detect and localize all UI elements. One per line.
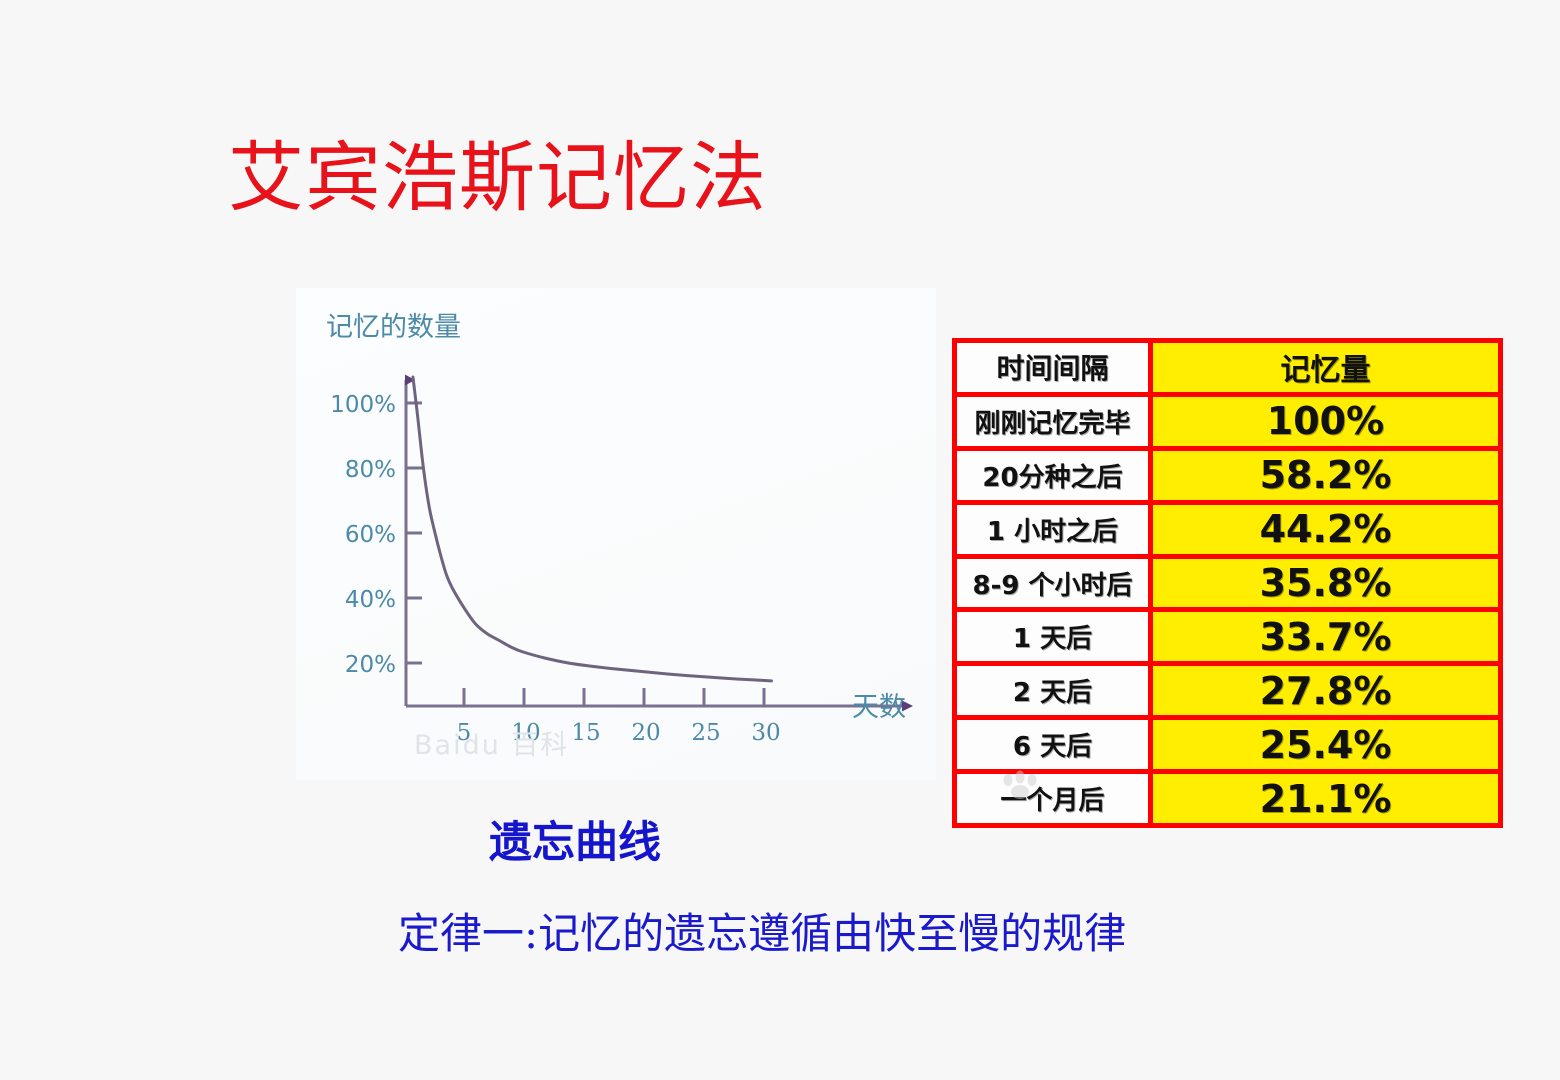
cell-amount: 33.7% [1153, 612, 1498, 661]
forgetting-curve-chart: 100% 80% 60% 40% 20% 5 10 15 20 25 30 记忆… [296, 288, 936, 780]
cell-interval: 一个月后 [957, 774, 1148, 823]
y-tick-label: 80% [345, 457, 396, 483]
forgetting-curve-line [413, 377, 771, 681]
table-header-row: 时间间隔 记忆量 [957, 343, 1498, 392]
table-row: 20分种之后 58.2% [957, 451, 1498, 500]
page-title: 艾宾浩斯记忆法 [228, 140, 767, 216]
cell-interval: 刚刚记忆完毕 [957, 397, 1148, 446]
law-description: 定律一:记忆的遗忘遵循由快至慢的规律 [398, 900, 1126, 961]
x-tick-label: 25 [691, 720, 720, 746]
x-tick-label: 20 [631, 720, 660, 746]
table-row: 1 天后 33.7% [957, 612, 1498, 661]
x-axis-title: 天数 [852, 692, 906, 723]
chart-caption-label: 遗忘曲线 [489, 808, 661, 870]
cell-amount: 44.2% [1153, 505, 1498, 554]
y-axis-title: 记忆的数量 [326, 312, 461, 343]
y-tick-label: 100% [330, 392, 396, 418]
table-row: 刚刚记忆完毕 100% [957, 397, 1498, 446]
table-row: 8-9 个小时后 35.8% [957, 559, 1498, 608]
memory-retention-table: 时间间隔 记忆量 刚刚记忆完毕 100% 20分种之后 58.2% 1 小时之后… [952, 338, 1503, 828]
cell-amount: 100% [1153, 397, 1498, 446]
x-tick-label: 30 [751, 720, 780, 746]
cell-interval: 20分种之后 [957, 451, 1148, 500]
cell-interval: 6 天后 [957, 720, 1148, 769]
x-axis-ticks [464, 688, 764, 706]
table-row: 6 天后 25.4% [957, 720, 1498, 769]
baidu-watermark: Baidu 百科 [414, 730, 569, 761]
cell-amount: 27.8% [1153, 666, 1498, 715]
column-header-interval: 时间间隔 [957, 343, 1148, 392]
y-axis-tick-labels: 100% 80% 60% 40% 20% [330, 392, 396, 678]
table-row: 1 小时之后 44.2% [957, 505, 1498, 554]
table-row: 2 天后 27.8% [957, 666, 1498, 715]
y-tick-label: 20% [345, 652, 396, 678]
y-tick-label: 60% [345, 522, 396, 548]
cell-amount: 58.2% [1153, 451, 1498, 500]
chart-svg: 100% 80% 60% 40% 20% 5 10 15 20 25 30 记忆… [296, 288, 936, 780]
cell-amount: 35.8% [1153, 559, 1498, 608]
cell-amount: 25.4% [1153, 720, 1498, 769]
y-tick-label: 40% [345, 587, 396, 613]
cell-interval: 1 天后 [957, 612, 1148, 661]
x-tick-label: 15 [571, 720, 600, 746]
table-row: 一个月后 21.1% [957, 774, 1498, 823]
cell-interval: 8-9 个小时后 [957, 559, 1148, 608]
column-header-amount: 记忆量 [1153, 343, 1498, 392]
cell-interval: 2 天后 [957, 666, 1148, 715]
cell-interval: 1 小时之后 [957, 505, 1148, 554]
cell-amount: 21.1% [1153, 774, 1498, 823]
